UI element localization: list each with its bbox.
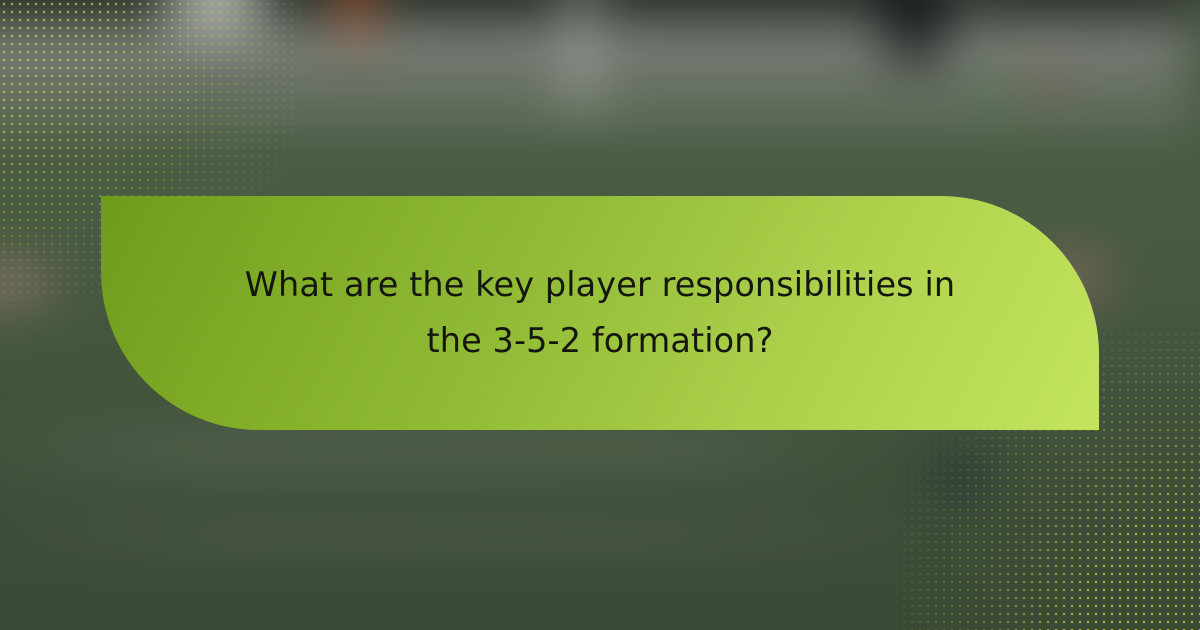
question-card-banner: What are the key player responsibilities…	[0, 0, 1200, 630]
question-card: What are the key player responsibilities…	[101, 196, 1099, 430]
question-title: What are the key player responsibilities…	[221, 257, 979, 368]
